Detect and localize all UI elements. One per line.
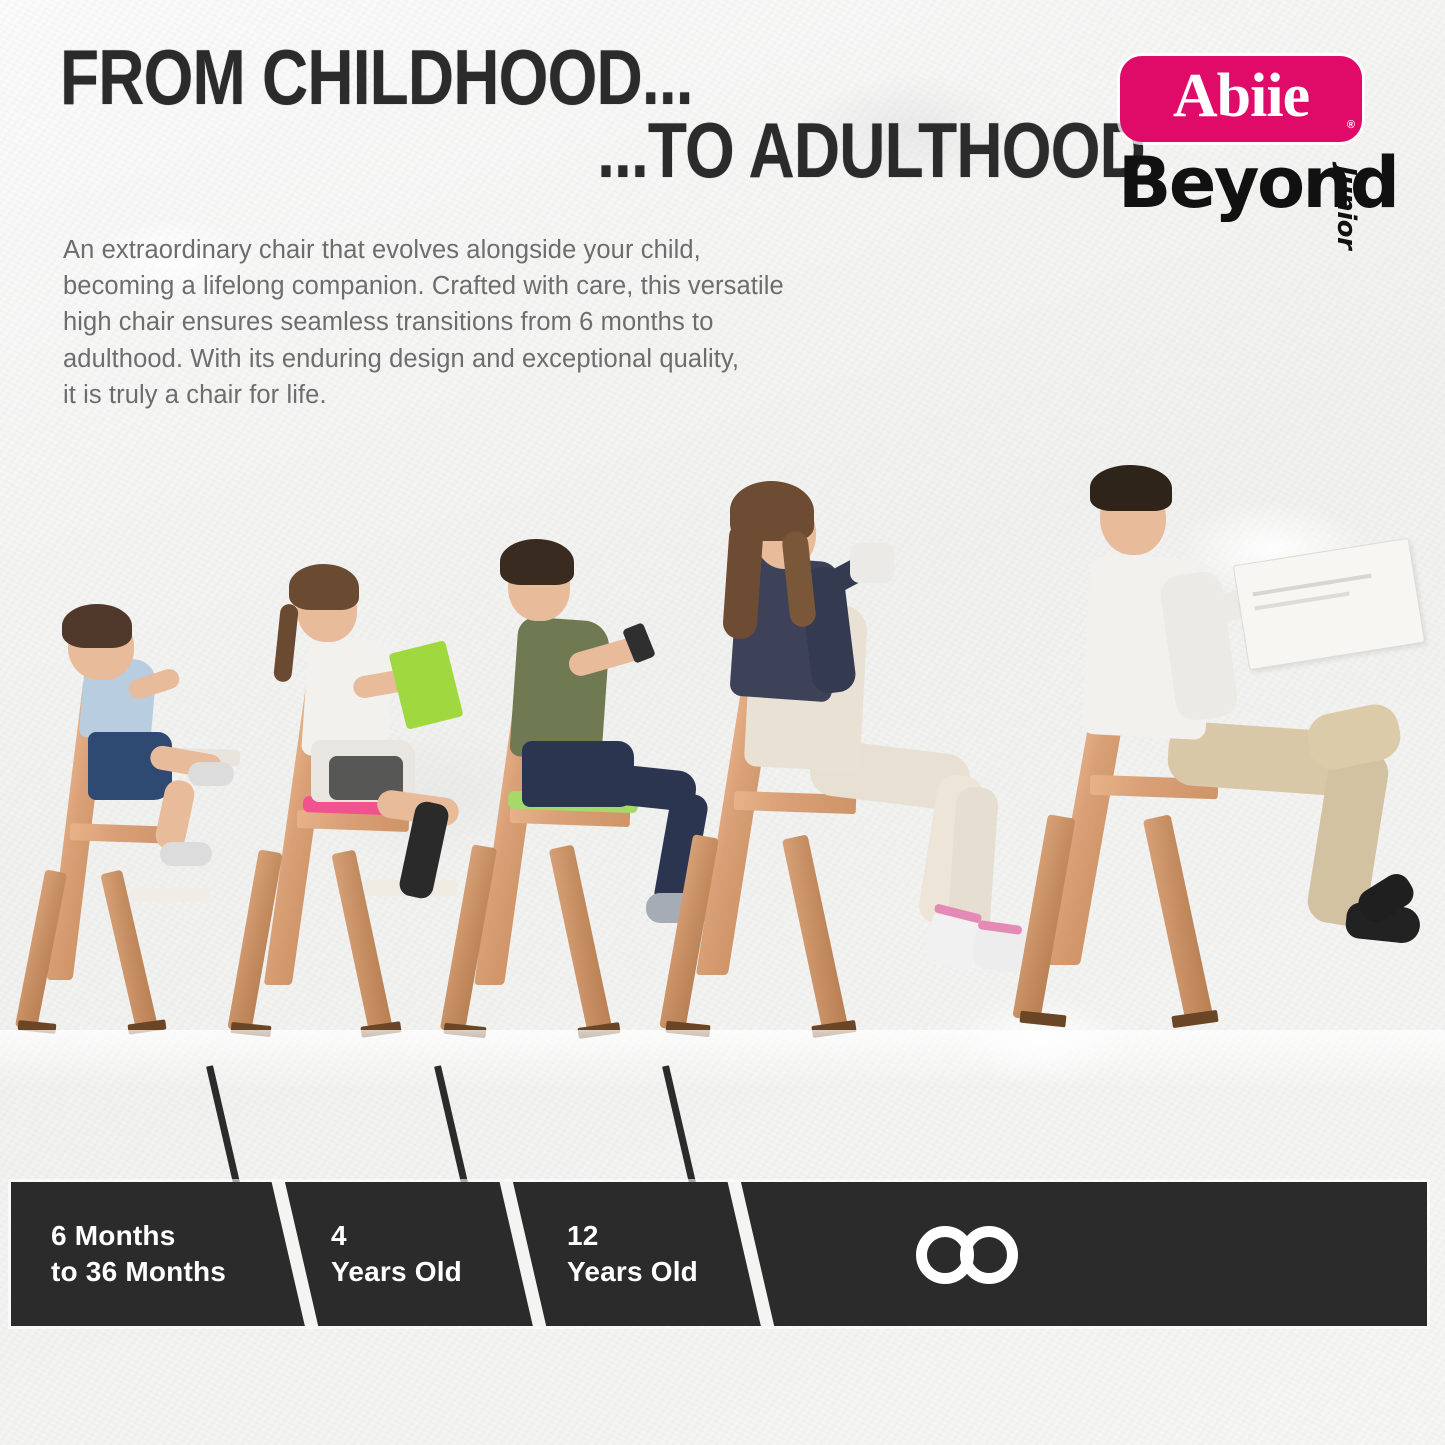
brand-badge: Abiie ® bbox=[1120, 56, 1362, 142]
age-label-preschooler: 4 Years Old bbox=[331, 1218, 462, 1290]
age-label-infant: 6 Months to 36 Months bbox=[51, 1218, 226, 1290]
page-title: FROM CHILDHOOD... ...TO ADULTHOOD bbox=[60, 44, 970, 184]
chair-growth-scene bbox=[0, 455, 1445, 1065]
infinity-icon bbox=[916, 1226, 1046, 1284]
stage-divider-gap-1 bbox=[269, 1182, 322, 1326]
age-label-child: 12 Years Old bbox=[567, 1218, 698, 1290]
stage-divider-gap-2 bbox=[497, 1182, 550, 1326]
age-label-child-line-1: 12 bbox=[567, 1218, 698, 1254]
age-label-child-line-2: Years Old bbox=[567, 1254, 698, 1290]
age-slot-child: 12 Years Old bbox=[567, 1182, 698, 1326]
figure-woman bbox=[690, 475, 1020, 1045]
brand-logo: Abiie ® Beyond Junior bbox=[1120, 56, 1420, 251]
description-line-1: An extraordinary chair that evolves alon… bbox=[63, 232, 1048, 268]
infinity-ring-right bbox=[960, 1226, 1018, 1284]
figure-man bbox=[1028, 465, 1438, 1045]
age-label-infant-line-2: to 36 Months bbox=[51, 1254, 226, 1290]
headline-line-2-wrap: ...TO ADULTHOOD bbox=[60, 117, 1145, 184]
product-description: An extraordinary chair that evolves alon… bbox=[63, 232, 1048, 413]
brand-name: Abiie bbox=[1120, 56, 1362, 142]
chair-stage bbox=[0, 455, 1445, 1065]
figure-toddler bbox=[10, 620, 250, 1040]
age-label-preschooler-line-2: Years Old bbox=[331, 1254, 462, 1290]
age-label-infant-line-1: 6 Months bbox=[51, 1218, 226, 1254]
figure-young-girl bbox=[225, 550, 475, 1040]
age-label-preschooler-line-1: 4 bbox=[331, 1218, 462, 1254]
age-slot-infant: 6 Months to 36 Months bbox=[51, 1182, 226, 1326]
product-edition-name: Junior bbox=[1331, 166, 1361, 249]
description-line-3: high chair ensures seamless transitions … bbox=[63, 304, 1048, 340]
headline-line-1: FROM CHILDHOOD... bbox=[60, 44, 806, 111]
product-infographic-poster: FROM CHILDHOOD... ...TO ADULTHOOD An ext… bbox=[0, 0, 1445, 1445]
age-range-bar: 6 Months to 36 Months 4 Years Old 12 Yea… bbox=[11, 1182, 1427, 1326]
registered-trademark-icon: ® bbox=[1347, 119, 1355, 131]
description-line-4: adulthood. With its enduring design and … bbox=[63, 341, 1048, 377]
age-slot-preschooler: 4 Years Old bbox=[331, 1182, 462, 1326]
stage-divider-gap-3 bbox=[725, 1182, 778, 1326]
description-line-5: it is truly a chair for life. bbox=[63, 377, 1048, 413]
description-line-2: becoming a lifelong companion. Crafted w… bbox=[63, 268, 1048, 304]
headline-line-2: ...TO ADULTHOOD bbox=[255, 117, 1145, 184]
